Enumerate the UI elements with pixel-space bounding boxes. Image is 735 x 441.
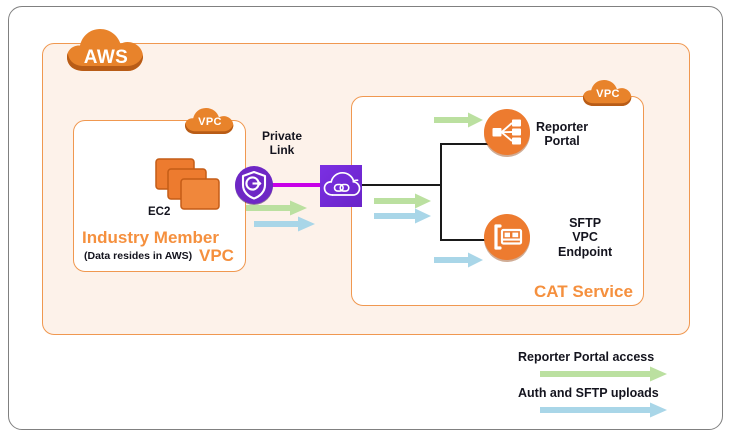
- vpc-endpoint-shield-icon: [235, 166, 273, 204]
- green-flow-arrow: [540, 366, 668, 387]
- ec2-label: EC2: [148, 206, 170, 219]
- cloud-shape-icon: [183, 106, 237, 136]
- industry-member-subtitle: (Data resides in AWS): [84, 250, 192, 262]
- blue-flow-arrow: [434, 252, 484, 273]
- ec2-instances-icon: [155, 158, 223, 212]
- blue-flow-arrow: [374, 208, 432, 229]
- aws-cloud-badge: AWS: [64, 26, 148, 74]
- green-flow-arrow: [434, 112, 484, 133]
- legend-label-reporter-portal-access: Reporter Portal access: [518, 350, 654, 364]
- cat-service-title: CAT Service: [534, 282, 633, 302]
- private-link-label: Private Link: [262, 130, 302, 158]
- sftp-vpc-endpoint-nic-icon: [484, 214, 530, 260]
- cloud-shape-icon: [581, 78, 635, 108]
- industry-vpc-cloud-badge: VPC: [183, 106, 237, 136]
- legend-label-auth-sftp-uploads: Auth and SFTP uploads: [518, 386, 659, 400]
- blue-flow-arrow: [254, 216, 316, 237]
- aws-privatelink-icon: [320, 165, 362, 207]
- trunk-line-horizontal: [362, 184, 442, 186]
- sftp-vpc-endpoint-label: SFTP VPC Endpoint: [558, 216, 612, 259]
- blue-flow-arrow: [540, 402, 668, 423]
- trunk-line-vertical: [440, 143, 442, 241]
- reporter-portal-label: Reporter Portal: [536, 120, 588, 149]
- reporter-portal-loadbalancer-icon: [484, 109, 530, 155]
- industry-member-title: Industry Member: [82, 228, 219, 248]
- cat-vpc-cloud-badge: VPC: [581, 78, 635, 108]
- diagram-canvas: AWS VPC EC2 Industry Member (Data reside…: [0, 0, 735, 441]
- cloud-shape-icon: [64, 26, 148, 74]
- industry-vpc-label: VPC: [199, 246, 234, 266]
- privatelink-connection-line: [270, 183, 322, 187]
